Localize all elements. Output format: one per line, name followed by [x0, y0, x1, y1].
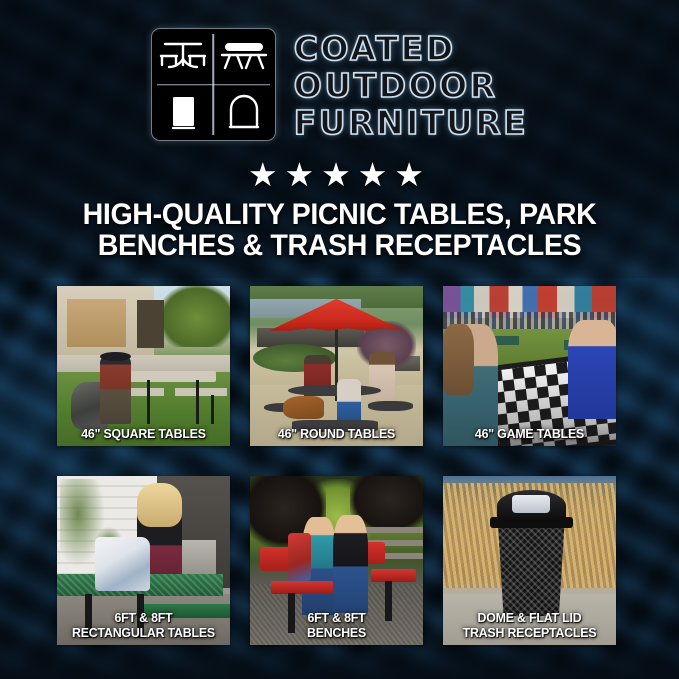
headline-line-1: HIGH-QUALITY PICNIC TABLES, PARK [39, 199, 639, 230]
star-icon: ★ [394, 158, 431, 191]
star-icon: ★ [358, 158, 395, 191]
wordmark-line-2: OUTDOOR [294, 68, 528, 104]
product-tile-rectangular-tables[interactable]: 6FT & 8FT RECTANGULAR TABLES [57, 476, 230, 645]
wordmark-line-1: COATED [294, 31, 528, 67]
trash-receptacle-icon [152, 85, 214, 141]
star-rating: ★★★★★ [0, 158, 679, 191]
caption-line-1: DOME & FLAT LID [450, 611, 609, 626]
brand-wordmark: COATED OUTDOOR FURNITURE [294, 29, 528, 141]
logo-mark-icon [151, 28, 276, 141]
picnic-table-icon [152, 29, 214, 85]
brand-logo: COATED OUTDOOR FURNITURE [0, 28, 679, 141]
product-photo-game-tables [443, 286, 616, 446]
product-tile-round-tables[interactable]: 46" ROUND TABLES [250, 286, 423, 446]
caption-line-1: 46" GAME TABLES [450, 427, 609, 442]
product-tile-benches[interactable]: 6FT & 8FT BENCHES [250, 476, 423, 645]
product-caption: 46" ROUND TABLES [257, 427, 416, 442]
caption-line-2: RECTANGULAR TABLES [64, 626, 223, 641]
wordmark-line-3: FURNITURE [294, 105, 528, 141]
caption-line-1: 46" ROUND TABLES [257, 427, 416, 442]
star-icon: ★ [321, 158, 358, 191]
caption-line-2: BENCHES [257, 626, 416, 641]
product-caption: 6FT & 8FT BENCHES [257, 611, 416, 640]
product-tile-square-tables[interactable]: 46" SQUARE TABLES [57, 286, 230, 446]
product-caption: DOME & FLAT LID TRASH RECEPTACLES [450, 611, 609, 640]
park-bench-icon [213, 29, 275, 85]
headline-line-2: BENCHES & TRASH RECEPTACLES [39, 230, 639, 261]
caption-line-1: 6FT & 8FT [257, 611, 416, 626]
product-caption: 46" SQUARE TABLES [64, 427, 223, 442]
page-title: HIGH-QUALITY PICNIC TABLES, PARK BENCHES… [39, 199, 639, 261]
product-caption: 6FT & 8FT RECTANGULAR TABLES [64, 611, 223, 640]
bike-rack-arch-icon [213, 85, 275, 141]
product-tile-trash-receptacles[interactable]: DOME & FLAT LID TRASH RECEPTACLES [443, 476, 616, 645]
star-icon: ★ [248, 158, 285, 191]
product-grid: 46" SQUARE TABLES 46" [57, 286, 623, 645]
caption-line-1: 6FT & 8FT [64, 611, 223, 626]
product-tile-game-tables[interactable]: 46" GAME TABLES [443, 286, 616, 446]
product-caption: 46" GAME TABLES [450, 427, 609, 442]
caption-line-1: 46" SQUARE TABLES [64, 427, 223, 442]
product-photo-square-tables [57, 286, 230, 446]
product-poster: COATED OUTDOOR FURNITURE ★★★★★ HIGH-QUAL… [0, 0, 679, 679]
caption-line-2: TRASH RECEPTACLES [450, 626, 609, 641]
product-photo-round-tables [250, 286, 423, 446]
star-icon: ★ [285, 158, 322, 191]
